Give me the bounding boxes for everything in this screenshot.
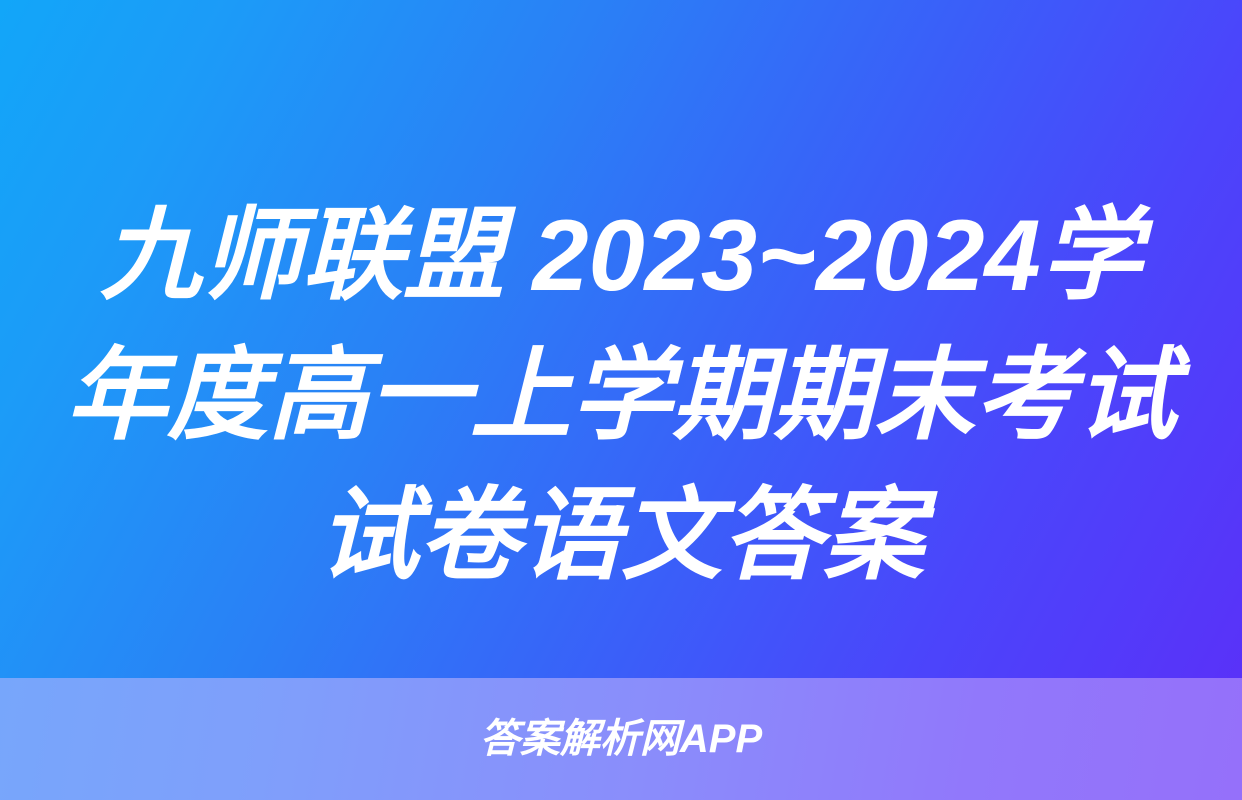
title-line-3: 试卷语文答案	[66, 466, 1176, 606]
title-line-1: 九师联盟 2023~2024学	[66, 186, 1176, 326]
cover-image: 九师联盟 2023~2024学 年度高一上学期期末考试 试卷语文答案 答案解析网…	[0, 0, 1242, 800]
title-line-2: 年度高一上学期期末考试	[66, 326, 1176, 466]
brand-watermark: 答案解析网APP	[480, 719, 762, 759]
footer-band: 答案解析网APP	[0, 678, 1242, 800]
page-title: 九师联盟 2023~2024学 年度高一上学期期末考试 试卷语文答案	[66, 186, 1176, 606]
